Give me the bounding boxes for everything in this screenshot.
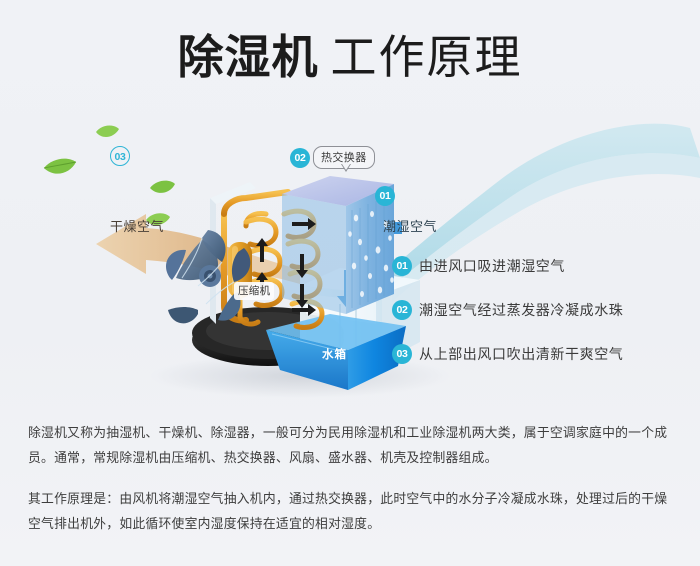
diagram-badge-03: 03 — [110, 146, 130, 166]
list-item: 01 由进风口吸进潮湿空气 — [392, 255, 692, 277]
evaporator-front — [282, 194, 346, 314]
body-copy: 除湿机又称为抽湿机、干燥机、除湿器，一般可分为民用除湿机和工业除湿机两大类，属于… — [28, 420, 676, 536]
leaf-icon-group — [44, 126, 175, 225]
heat-exchanger-callout-tail — [341, 164, 351, 172]
list-item: 02 潮湿空气经过蒸发器冷凝成水珠 — [392, 299, 692, 321]
steps-list: 01 由进风口吸进潮湿空气 02 潮湿空气经过蒸发器冷凝成水珠 03 从上部出风… — [392, 255, 692, 387]
leaf-icon-3 — [150, 181, 175, 193]
step-label: 从上部出风口吹出清新干爽空气 — [419, 344, 623, 364]
step-label: 由进风口吸进潮湿空气 — [419, 256, 565, 276]
page-title-light: 工作原理 — [331, 31, 523, 83]
page-title-bold: 除湿机 — [178, 31, 319, 83]
paragraph-2: 其工作原理是：由风机将潮湿空气抽入机内，通过热交换器，此时空气中的水分子冷凝成水… — [28, 486, 676, 536]
step-number-badge: 02 — [392, 300, 412, 320]
list-item: 03 从上部出风口吹出清新干爽空气 — [392, 343, 692, 365]
step-number-badge: 01 — [392, 256, 412, 276]
diagram-badge-01: 01 — [375, 186, 395, 206]
diagram-badge-02: 02 — [290, 148, 310, 168]
step-label: 潮湿空气经过蒸发器冷凝成水珠 — [419, 300, 623, 320]
dry-air-label: 干燥空气 — [110, 216, 164, 235]
humid-air-label: 潮湿空气 — [383, 216, 437, 235]
compressor-tag: 压缩机 — [234, 282, 274, 300]
leaf-icon-1 — [44, 159, 76, 174]
step-number-badge: 03 — [392, 344, 412, 364]
leaf-icon-2 — [96, 126, 119, 137]
paragraph-1: 除湿机又称为抽湿机、干燥机、除湿器，一般可分为民用除湿机和工业除湿机两大类，属于… — [28, 420, 676, 470]
water-tank-tag: 水箱 — [322, 346, 347, 362]
page-title: 除湿机工作原理 — [0, 33, 700, 81]
